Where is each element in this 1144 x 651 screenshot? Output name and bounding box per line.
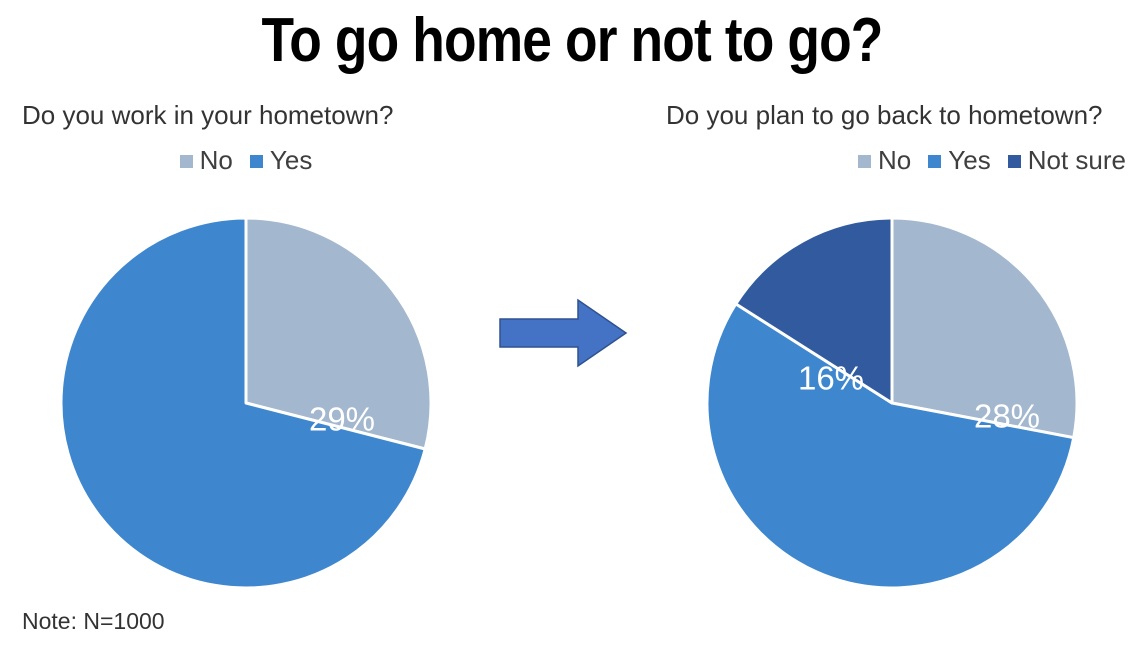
legend-label-no: No [878, 147, 911, 173]
legend-swatch-square-not-sure [1008, 155, 1021, 168]
legend-item-no[interactable]: No [180, 147, 233, 173]
pie-slices-left [61, 218, 431, 588]
pie-slice-label-not-sure: 16% [798, 360, 864, 397]
note-text: Note: N=1000 [22, 608, 165, 635]
legend-item-yes[interactable]: Yes [250, 147, 312, 173]
right-arrow-icon [498, 298, 628, 368]
legend-swatch-square-yes [928, 155, 941, 168]
pie-chart-left-wrap: 29% 71% [0, 203, 500, 603]
pie-chart-right[interactable]: 28% 56% 16% [692, 203, 1092, 603]
pie-chart-left[interactable]: 29% 71% [46, 203, 446, 603]
page-title: To go home or not to go? [80, 8, 1064, 73]
pie-panel-right: Do you plan to go back to hometown? No Y… [630, 95, 1130, 605]
pie-slice-label-no: 28% [974, 398, 1040, 435]
legend-item-not-sure[interactable]: Not sure [1008, 147, 1126, 173]
panel-subtitle-left: Do you work in your hometown? [22, 100, 522, 131]
pie-chart-right-wrap: 28% 56% 16% [630, 203, 1130, 603]
legend-swatch-square-yes [250, 155, 263, 168]
legend-swatch-square-no [858, 155, 871, 168]
transition-arrow-wrap [498, 298, 628, 368]
pie-slice-label-yes: 71% [89, 571, 155, 603]
legend-label-yes: Yes [948, 147, 990, 173]
pie-slice-label-no: 29% [309, 401, 375, 438]
legend-item-yes[interactable]: Yes [928, 147, 990, 173]
legend-label-yes: Yes [270, 147, 312, 173]
legend-label-not-sure: Not sure [1028, 147, 1126, 173]
legend-swatch-square-no [180, 155, 193, 168]
legend-item-no[interactable]: No [858, 147, 911, 173]
panel-subtitle-right: Do you plan to go back to hometown? [666, 100, 1144, 131]
right-arrow-shape [500, 300, 626, 366]
legend-right: No Yes Not sure [742, 147, 1144, 173]
pie-panel-left: Do you work in your hometown? No Yes 29%… [0, 95, 500, 605]
legend-left: No Yes [0, 147, 496, 173]
legend-label-no: No [200, 147, 233, 173]
